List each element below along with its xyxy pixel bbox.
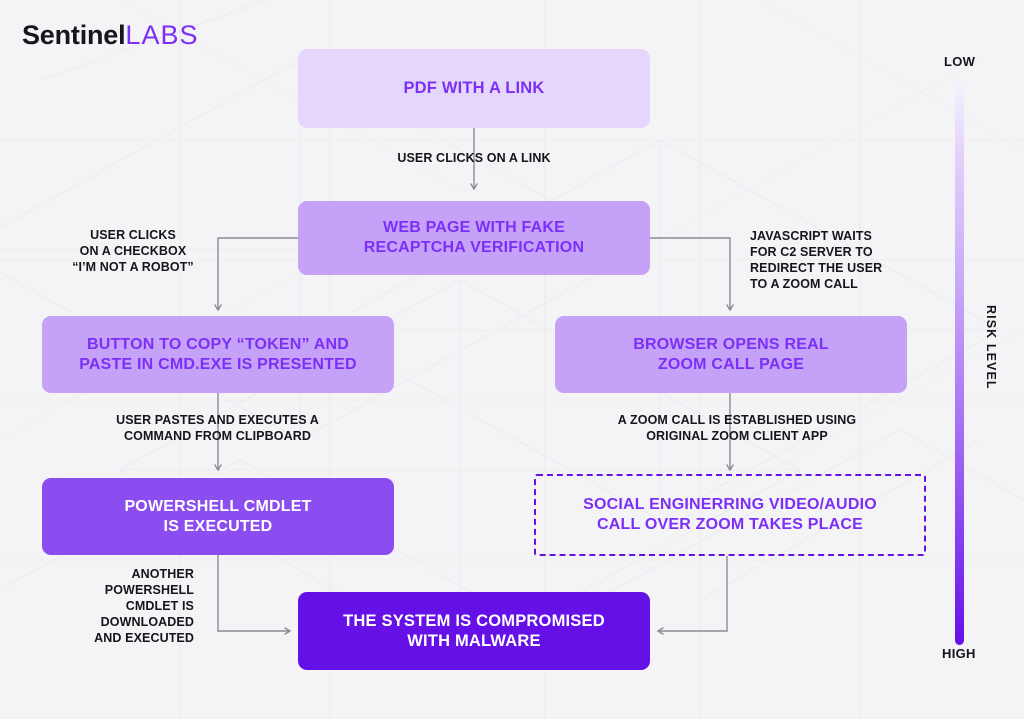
node-social-engineering-call[interactable]: SOCIAL ENGINERRING VIDEO/AUDIOCALL OVER … [534,474,926,556]
risk-low-label: LOW [944,54,975,69]
risk-level-gradient-bar [955,82,964,645]
node-browser-opens-zoom[interactable]: BROWSER OPENS REALZOOM CALL PAGE [555,316,907,393]
edge-webpage-to-token [218,238,298,310]
node-system-compromised[interactable]: THE SYSTEM IS COMPROMISEDWITH MALWARE [298,592,650,670]
node-label: POWERSHELL CMDLETIS EXECUTED [124,497,311,536]
logo-labs: LABS [125,20,198,50]
edge-powershell-to-compromised [218,555,290,631]
diagram-canvas: SentinelLABS PDF WITH A LINK WEB PAGE WI… [0,0,1024,719]
edge-label-user-clicks-checkbox: USER CLICKSON A CHECKBOX“I’M NOT A ROBOT… [58,227,208,275]
logo-sentinel: Sentinel [22,20,125,50]
node-button-copy-token[interactable]: BUTTON TO COPY “TOKEN” ANDPASTE IN CMD.E… [42,316,394,393]
sentinel-labs-logo: SentinelLABS [22,22,198,49]
node-powershell-cmdlet-executed[interactable]: POWERSHELL CMDLETIS EXECUTED [42,478,394,555]
node-label: WEB PAGE WITH FAKERECAPTCHA VERIFICATION [364,218,584,257]
edge-webpage-to-browser [650,238,730,310]
node-label: BUTTON TO COPY “TOKEN” ANDPASTE IN CMD.E… [79,335,357,374]
edge-label-user-clicks-link: USER CLICKS ON A LINK [374,150,574,166]
node-label: SOCIAL ENGINERRING VIDEO/AUDIOCALL OVER … [583,495,877,534]
edge-label-zoom-call-established: A ZOOM CALL IS ESTABLISHED USINGORIGINAL… [592,412,882,444]
risk-high-label: HIGH [942,646,976,661]
risk-level-axis-label: RISK LEVEL [984,305,998,390]
node-label: BROWSER OPENS REALZOOM CALL PAGE [633,335,829,374]
node-label: THE SYSTEM IS COMPROMISEDWITH MALWARE [343,611,605,651]
node-pdf-with-a-link[interactable]: PDF WITH A LINK [298,49,650,128]
edge-label-javascript-waits: JAVASCRIPT WAITSFOR C2 SERVER TOREDIRECT… [750,228,930,292]
edge-label-user-pastes-command: USER PASTES AND EXECUTES ACOMMAND FROM C… [85,412,350,444]
edge-label-another-powershell-cmdlet: ANOTHERPOWERSHELLCMDLET ISDOWNLOADEDAND … [76,566,194,646]
node-web-page-fake-recaptcha[interactable]: WEB PAGE WITH FAKERECAPTCHA VERIFICATION [298,201,650,275]
node-label: PDF WITH A LINK [403,78,544,98]
edge-social-to-compromised [658,556,727,631]
